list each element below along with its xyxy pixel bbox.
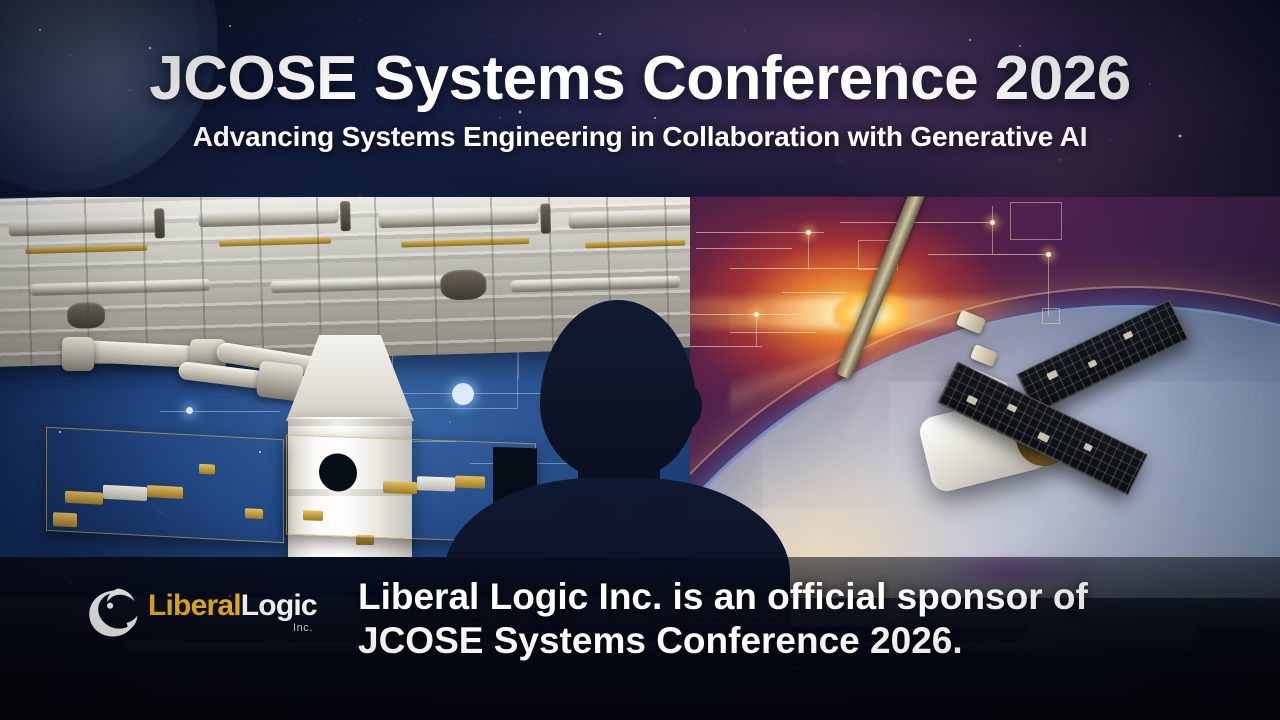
solar-array-left (46, 427, 284, 543)
sponsor-statement: Liberal Logic Inc. is an official sponso… (358, 575, 1088, 662)
footer-band: LiberalLogic Inc. Liberal Logic Inc. is … (0, 557, 1280, 720)
page-title: JCOSE Systems Conference 2026 (149, 47, 1130, 110)
dolphin-crescent-icon (82, 583, 140, 641)
logo-inc-suffix: Inc. (293, 623, 313, 634)
logo-words: LiberalLogic (148, 591, 317, 621)
capsule-band-top (288, 419, 412, 426)
sponsor-line-2: JCOSE Systems Conference 2026. (358, 619, 1088, 663)
robotic-arm-joint-a (62, 337, 94, 371)
liberal-logic-logo[interactable]: LiberalLogic Inc. (82, 583, 317, 641)
header-band: JCOSE Systems Conference 2026 Advancing … (0, 0, 1280, 197)
logo-word-logic: Logic (241, 589, 317, 622)
logo-wordmark: LiberalLogic Inc. (148, 591, 317, 634)
sponsor-banner: JCOSE Systems Conference 2026 Advancing … (0, 0, 1280, 720)
logo-word-liberal: Liberal (148, 589, 241, 622)
sponsor-line-1: Liberal Logic Inc. is an official sponso… (358, 575, 1088, 619)
page-subtitle: Advancing Systems Engineering in Collabo… (193, 121, 1088, 153)
silhouette-ear (676, 386, 702, 428)
